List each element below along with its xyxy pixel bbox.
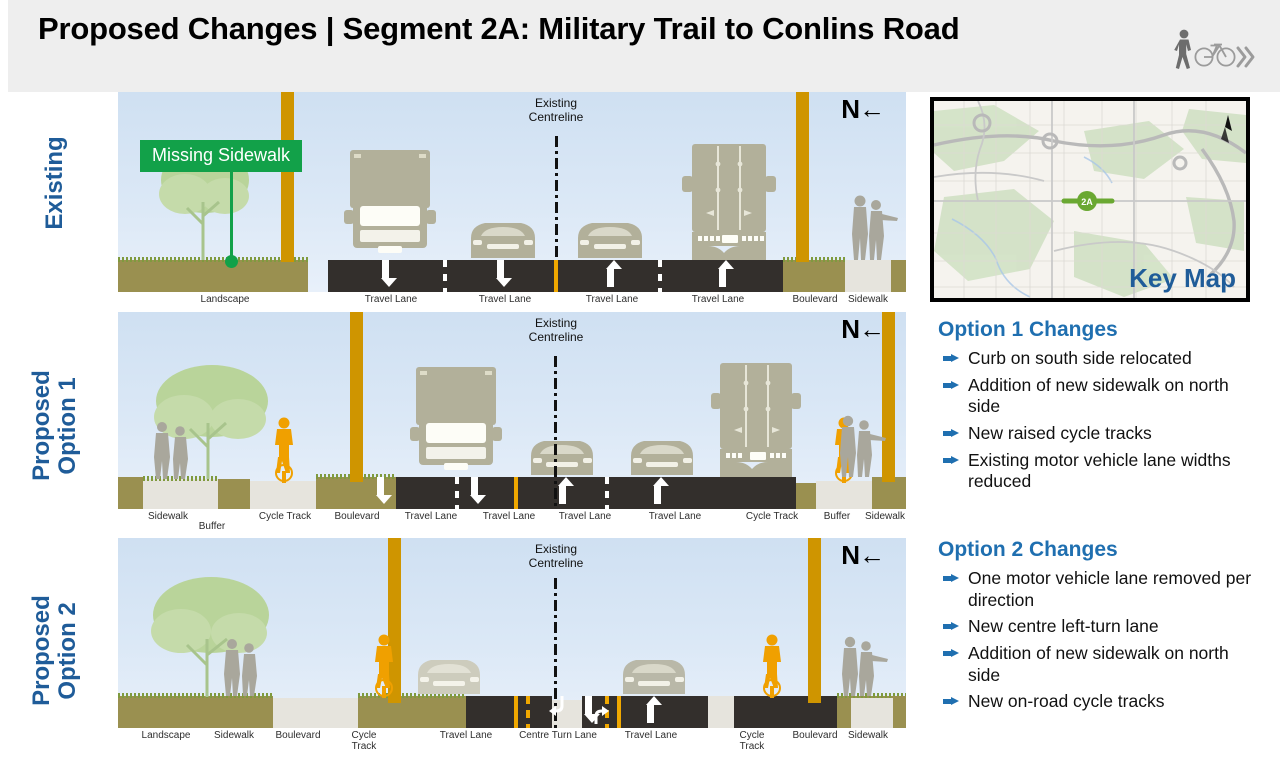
seg-label-buffer-right: Buffer xyxy=(824,511,851,522)
existing-centreline xyxy=(554,356,557,506)
seg-label-boulevard: Boulevard xyxy=(792,294,837,305)
pedestrian-pair-graphic xyxy=(148,419,208,481)
list-item-text: Addition of new sidewalk on north side xyxy=(968,643,1229,685)
key-map[interactable]: 2A Key Map xyxy=(930,97,1250,302)
pedestrian-pair-graphic xyxy=(834,413,890,479)
arrow-bullet-icon xyxy=(943,697,959,706)
option1-edge-strip xyxy=(118,477,143,509)
car-graphic xyxy=(463,214,543,262)
north-letter: N xyxy=(841,94,859,124)
key-map-label: Key Map xyxy=(1129,263,1236,294)
north-indicator: N← xyxy=(841,314,884,345)
north-arrow-icon: ← xyxy=(859,94,884,124)
centre-yellow-line xyxy=(514,477,518,509)
grass-texture xyxy=(783,257,845,262)
seg-label-centre-turn-lane: Centre Turn Lane xyxy=(519,730,597,741)
cross-section-option-2: Existing Centreline N← xyxy=(118,538,906,754)
option2-landscape-strip xyxy=(118,696,273,728)
option1-cycletrack-strip xyxy=(250,481,316,509)
row-label-option-1-text: Proposed Option 1 xyxy=(29,371,81,481)
seg-label-travel-4: Travel Lane xyxy=(692,294,744,305)
option2-scene: Existing Centreline N← xyxy=(118,538,906,728)
option2-gap-strip xyxy=(708,696,734,728)
list-item: New raised cycle tracks xyxy=(938,423,1258,445)
list-item: Curb on south side relocated xyxy=(938,348,1258,370)
seg-label-travel-2: Travel Lane xyxy=(625,730,677,741)
keymap-segment-marker: 2A xyxy=(1081,197,1093,207)
option1-curb-strip xyxy=(796,483,816,509)
car-graphic xyxy=(570,214,650,262)
cross-section-option-1: Existing Centreline N← Sidewalk Buffer C… xyxy=(118,312,906,535)
cross-section-existing: Existing Centreline N← Missing Sidewalk … xyxy=(118,92,906,318)
option1-segment-labels: Sidewalk Buffer Cycle Track Boulevard Tr… xyxy=(118,509,906,535)
seg-label-travel-4: Travel Lane xyxy=(649,511,701,522)
arrow-bullet-icon xyxy=(943,354,959,363)
utility-pole xyxy=(796,92,809,262)
seg-label-boulevard-left: Boulevard xyxy=(334,511,379,522)
list-item-text: Addition of new sidewalk on north side xyxy=(968,375,1229,417)
box-truck-graphic xyxy=(406,359,506,479)
existing-scene: Existing Centreline N← Missing Sidewalk xyxy=(118,92,906,292)
pedestrian-pair-graphic xyxy=(218,636,274,698)
option2-roadway-right xyxy=(734,696,837,728)
car-graphic xyxy=(623,433,701,479)
centreline-label: Existing Centreline xyxy=(529,316,584,345)
seg-label-cycle-track-right: Cycle Track xyxy=(739,730,764,752)
direction-arrow-up xyxy=(718,260,727,287)
row-label-existing: Existing xyxy=(0,170,110,196)
seg-label-sidewalk-left: Sidewalk xyxy=(214,730,254,741)
direction-arrow-down xyxy=(381,260,390,287)
row-label-option-2-text: Proposed Option 2 xyxy=(29,596,81,706)
list-item: New centre left-turn lane xyxy=(938,616,1258,638)
north-indicator: N← xyxy=(841,94,884,125)
option-1-changes-heading: Option 1 Changes xyxy=(938,318,1118,342)
arrow-bullet-icon xyxy=(943,429,959,438)
seg-label-sidewalk-right: Sidewalk xyxy=(848,730,888,741)
direction-arrow-down xyxy=(496,260,505,287)
option1-buffer-strip xyxy=(218,479,250,509)
car-graphic xyxy=(410,652,488,698)
callout-leader-line xyxy=(230,170,233,262)
direction-arrow-up xyxy=(558,477,567,504)
seg-label-travel-3: Travel Lane xyxy=(559,511,611,522)
turn-arrow-pair xyxy=(546,694,612,726)
seg-label-boulevard-left: Boulevard xyxy=(275,730,320,741)
seg-label-travel-2: Travel Lane xyxy=(483,511,535,522)
existing-edge-strip xyxy=(891,260,906,292)
arrow-bullet-icon xyxy=(943,574,959,583)
centreline-label: Existing Centreline xyxy=(529,542,584,571)
row-label-existing-text: Existing xyxy=(42,128,68,238)
car-graphic xyxy=(523,433,601,479)
option2-sidewalk-strip xyxy=(273,698,358,728)
north-arrow-icon: ← xyxy=(859,540,884,570)
seg-label-travel-1: Travel Lane xyxy=(365,294,417,305)
direction-arrow-up xyxy=(646,696,655,723)
seg-label-buffer-left: Buffer xyxy=(199,521,226,532)
lane-divider-dash xyxy=(605,477,609,509)
seg-label-travel-1: Travel Lane xyxy=(440,730,492,741)
callout-point-marker xyxy=(225,255,238,268)
list-item: Existing motor vehicle lane widths reduc… xyxy=(938,450,1258,493)
list-item: Addition of new sidewalk on north side xyxy=(938,375,1258,418)
turn-lane-yellow-dash xyxy=(526,696,530,728)
page-title: Proposed Changes | Segment 2A: Military … xyxy=(38,8,1128,50)
seg-label-travel-3: Travel Lane xyxy=(586,294,638,305)
truck-rear-graphic xyxy=(678,140,780,262)
seg-label-landscape: Landscape xyxy=(142,730,191,741)
pedestrian-pair-graphic xyxy=(836,634,892,698)
list-item-text: New centre left-turn lane xyxy=(968,616,1159,636)
option-2-changes-heading: Option 2 Changes xyxy=(938,538,1118,562)
missing-sidewalk-callout: Missing Sidewalk xyxy=(140,140,302,172)
turn-lane-yellow-line xyxy=(617,696,621,728)
truck-rear-graphic xyxy=(708,359,806,479)
existing-landscape-strip xyxy=(118,260,308,292)
seg-label-cycle-track-right: Cycle Track xyxy=(746,511,798,522)
option2-segment-labels: Landscape Sidewalk Boulevard Cycle Track… xyxy=(118,728,906,754)
direction-arrow-down xyxy=(584,696,593,723)
existing-sidewalk-strip xyxy=(845,260,891,292)
option2-boulevard-strip xyxy=(358,696,466,728)
existing-boulevard-strip xyxy=(783,260,845,292)
seg-label-sidewalk-right: Sidewalk xyxy=(865,511,905,522)
seg-label-sidewalk: Sidewalk xyxy=(848,294,888,305)
seg-label-landscape: Landscape xyxy=(201,294,250,305)
list-item-text: New on-road cycle tracks xyxy=(968,691,1164,711)
centreline-label: Existing Centreline xyxy=(529,96,584,125)
list-item: New on-road cycle tracks xyxy=(938,691,1258,713)
list-item-text: Existing motor vehicle lane widths reduc… xyxy=(968,450,1231,492)
direction-arrow-down xyxy=(376,477,385,504)
north-indicator: N← xyxy=(841,540,884,571)
option-1-changes-list: Curb on south side relocated Addition of… xyxy=(938,348,1258,498)
north-letter: N xyxy=(841,540,859,570)
car-graphic xyxy=(615,652,693,698)
utility-pole xyxy=(281,92,294,262)
arrow-bullet-icon xyxy=(943,649,959,658)
pedestrian-bicycle-chevron-icon xyxy=(1170,26,1256,72)
list-item: One motor vehicle lane removed per direc… xyxy=(938,568,1258,611)
list-item-text: New raised cycle tracks xyxy=(968,423,1152,443)
seg-label-travel-2: Travel Lane xyxy=(479,294,531,305)
list-item-text: Curb on south side relocated xyxy=(968,348,1192,368)
option1-scene: Existing Centreline N← xyxy=(118,312,906,509)
cyclist-graphic xyxy=(366,632,402,698)
lane-divider-dash xyxy=(443,260,447,292)
list-item: Addition of new sidewalk on north side xyxy=(938,643,1258,686)
option1-cycletrack-strip xyxy=(816,481,872,509)
list-item-text: One motor vehicle lane removed per direc… xyxy=(968,568,1251,610)
cyclist-graphic xyxy=(754,632,790,698)
seg-label-cycle-track-left: Cycle Track xyxy=(351,730,376,752)
option2-cycletrack-left xyxy=(466,696,552,728)
option2-edge-strip xyxy=(893,696,906,728)
option2-sidewalk-right xyxy=(851,698,893,728)
utility-pole xyxy=(350,312,363,482)
arrow-bullet-icon xyxy=(943,456,959,465)
lane-divider-dash xyxy=(455,477,459,509)
seg-label-sidewalk-left: Sidewalk xyxy=(148,511,188,522)
cyclist-graphic xyxy=(266,415,302,483)
option-2-changes-list: One motor vehicle lane removed per direc… xyxy=(938,568,1258,718)
seg-label-boulevard-right: Boulevard xyxy=(792,730,837,741)
row-label-option-2: Proposed Option 2 xyxy=(0,625,110,677)
arrow-bullet-icon xyxy=(943,381,959,390)
lane-divider-dash xyxy=(658,260,662,292)
row-label-option-1: Proposed Option 1 xyxy=(0,400,110,452)
direction-arrow-down xyxy=(470,477,479,504)
direction-arrow-up xyxy=(653,477,662,504)
seg-label-travel-1: Travel Lane xyxy=(405,511,457,522)
box-truck-graphic xyxy=(340,142,440,262)
centre-yellow-line xyxy=(554,260,558,292)
pedestrian-pair-graphic xyxy=(846,192,902,262)
arrow-bullet-icon xyxy=(943,622,959,631)
seg-label-cycle-track-left: Cycle Track xyxy=(259,511,311,522)
north-letter: N xyxy=(841,314,859,344)
direction-arrow-up xyxy=(606,260,615,287)
utility-pole xyxy=(808,538,821,703)
page-header: Proposed Changes | Segment 2A: Military … xyxy=(8,0,1280,92)
turn-lane-yellow-line xyxy=(514,696,518,728)
option1-sidewalk-strip xyxy=(143,479,218,509)
north-arrow-icon: ← xyxy=(859,314,884,344)
